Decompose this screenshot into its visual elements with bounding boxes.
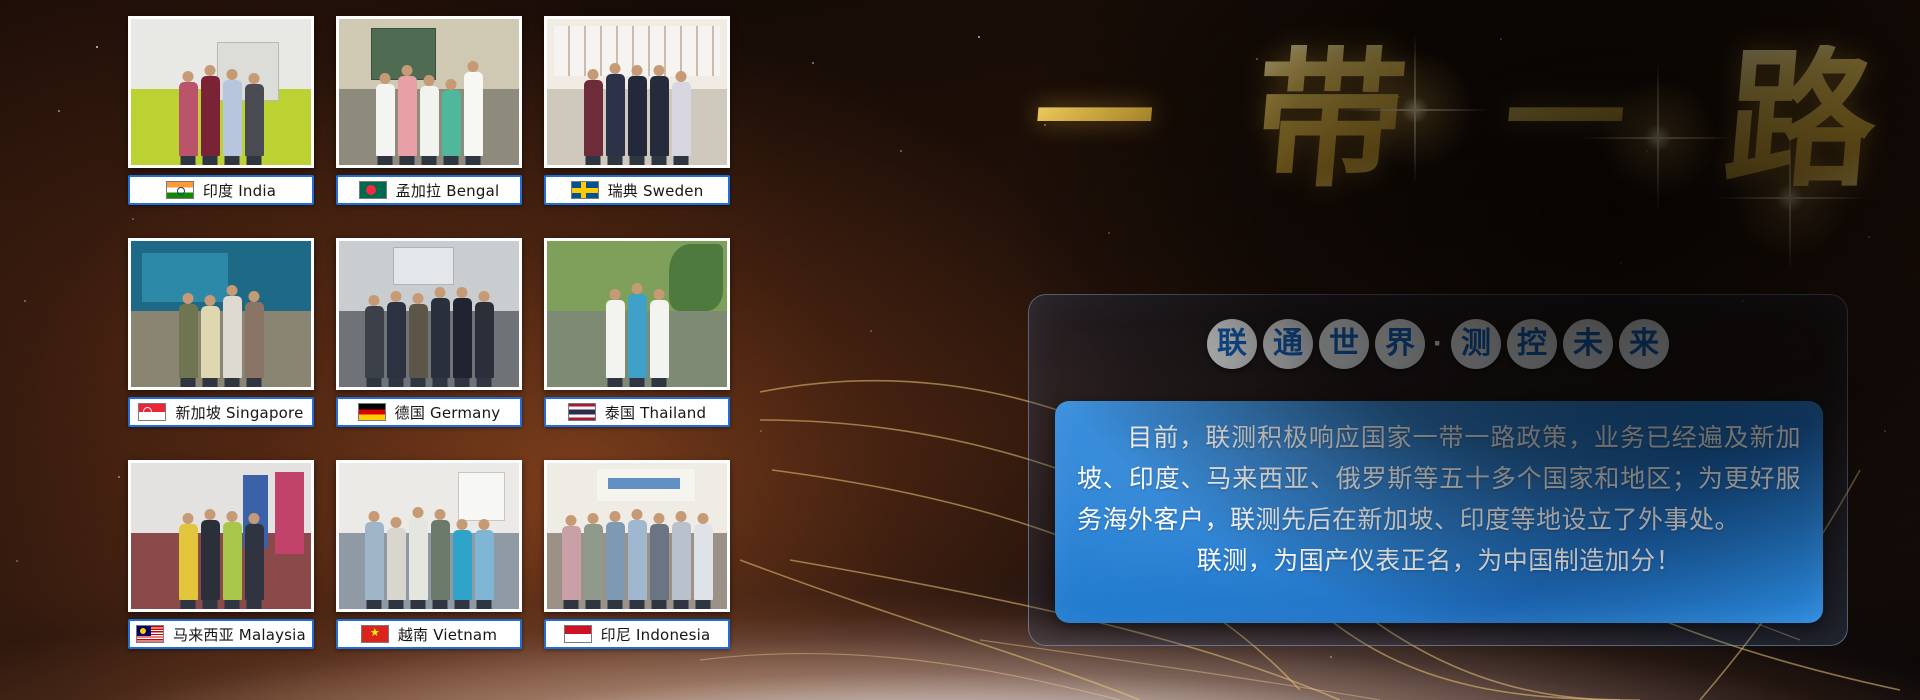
country-label-text: 马来西亚 Malaysia	[173, 624, 306, 645]
country-label[interactable]: 瑞典 Sweden	[544, 175, 730, 205]
country-label[interactable]: 德国 Germany	[336, 397, 522, 427]
country-label-text: 瑞典 Sweden	[608, 180, 704, 201]
description-line-5: 联测，为国产仪表正名，为中国制造加分！	[1077, 540, 1801, 581]
description-box: 目前，联测积极响应国家一带一路政策，业务已经遍及新加坡、印度、马来西亚、俄罗斯等…	[1055, 401, 1823, 623]
country-photo[interactable]	[128, 238, 314, 390]
flag-singapore-icon	[138, 403, 166, 421]
country-label[interactable]: 马来西亚 Malaysia	[128, 619, 314, 649]
gallery-card[interactable]: 瑞典 Sweden	[544, 16, 730, 224]
country-label[interactable]: 印尼 Indonesia	[544, 619, 730, 649]
slogan-separator: ·	[1431, 329, 1445, 359]
calligraphy-char-4: 路	[1719, 45, 1882, 195]
country-photo[interactable]	[336, 16, 522, 168]
gallery-card[interactable]: 马来西亚 Malaysia	[128, 460, 314, 668]
flag-malaysia-icon	[136, 625, 164, 643]
gallery-card[interactable]: 新加坡 Singapore	[128, 238, 314, 446]
calligraphy-char-3: 一	[1500, 60, 1630, 180]
country-label-text: 印度 India	[203, 180, 276, 201]
slogan-char: 世	[1319, 319, 1369, 369]
flag-vietnam-icon	[361, 625, 389, 643]
info-panel: 联 通 世 界 · 测 控 未 来 目前，联测积极响应国家一带一路政策，业务已经…	[1028, 294, 1848, 646]
country-photo[interactable]	[128, 16, 314, 168]
country-label-text: 新加坡 Singapore	[175, 402, 303, 423]
country-photo[interactable]	[544, 16, 730, 168]
flag-bangladesh-icon	[359, 181, 387, 199]
sparkle-glint	[1345, 40, 1485, 180]
slogan-char: 界	[1375, 319, 1425, 369]
slogan-char: 未	[1563, 319, 1613, 369]
country-label-text: 孟加拉 Bengal	[396, 180, 500, 201]
slogan-char: 控	[1507, 319, 1557, 369]
country-label-text: 印尼 Indonesia	[601, 624, 711, 645]
slogan-char: 来	[1619, 319, 1669, 369]
flag-thailand-icon	[568, 403, 596, 421]
country-photo[interactable]	[336, 238, 522, 390]
flag-germany-icon	[358, 403, 386, 421]
country-photo-grid: 印度 India 孟加拉 Bengal	[128, 16, 768, 684]
calligraphy-char-1: 一	[1029, 60, 1159, 180]
slogan-char: 通	[1263, 319, 1313, 369]
sparkle-glint	[1588, 68, 1728, 208]
country-label[interactable]: 越南 Vietnam	[336, 619, 522, 649]
flag-sweden-icon	[571, 181, 599, 199]
calligraphy-char-2: 带	[1248, 45, 1411, 195]
slogan-row: 联 通 世 界 · 测 控 未 来	[1029, 295, 1847, 387]
gallery-card[interactable]: 印尼 Indonesia	[544, 460, 730, 668]
flag-indonesia-icon	[564, 625, 592, 643]
gallery-card[interactable]: 泰国 Thailand	[544, 238, 730, 446]
description-line-4: 在新加坡、印度等地设立了外事处。	[1332, 505, 1740, 534]
flag-india-icon	[166, 181, 194, 199]
banner-stage: 印度 India 孟加拉 Bengal	[0, 0, 1920, 700]
description-line-1: 目前，联测积极响应国家一带一路政策，业务	[1127, 423, 1646, 452]
slogan-char: 联	[1207, 319, 1257, 369]
country-photo[interactable]	[128, 460, 314, 612]
country-label[interactable]: 孟加拉 Bengal	[336, 175, 522, 205]
gallery-card[interactable]: 印度 India	[128, 16, 314, 224]
country-label-text: 泰国 Thailand	[605, 402, 706, 423]
country-label[interactable]: 新加坡 Singapore	[128, 397, 314, 427]
country-label-text: 德国 Germany	[395, 402, 501, 423]
gallery-card[interactable]: 德国 Germany	[336, 238, 522, 446]
country-photo[interactable]	[336, 460, 522, 612]
country-label[interactable]: 印度 India	[128, 175, 314, 205]
country-label[interactable]: 泰国 Thailand	[544, 397, 730, 427]
slogan-char: 测	[1451, 319, 1501, 369]
country-label-text: 越南 Vietnam	[398, 624, 497, 645]
sparkle-glint	[1720, 128, 1860, 268]
country-photo[interactable]	[544, 238, 730, 390]
gallery-card[interactable]: 孟加拉 Bengal	[336, 16, 522, 224]
description-text: 目前，联测积极响应国家一带一路政策，业务已经遍及新加坡、印度、马来西亚、俄罗斯等…	[1077, 417, 1801, 581]
belt-and-road-calligraphy: 一 带 一 路	[1020, 20, 1890, 220]
gallery-card[interactable]: 越南 Vietnam	[336, 460, 522, 668]
country-photo[interactable]	[544, 460, 730, 612]
